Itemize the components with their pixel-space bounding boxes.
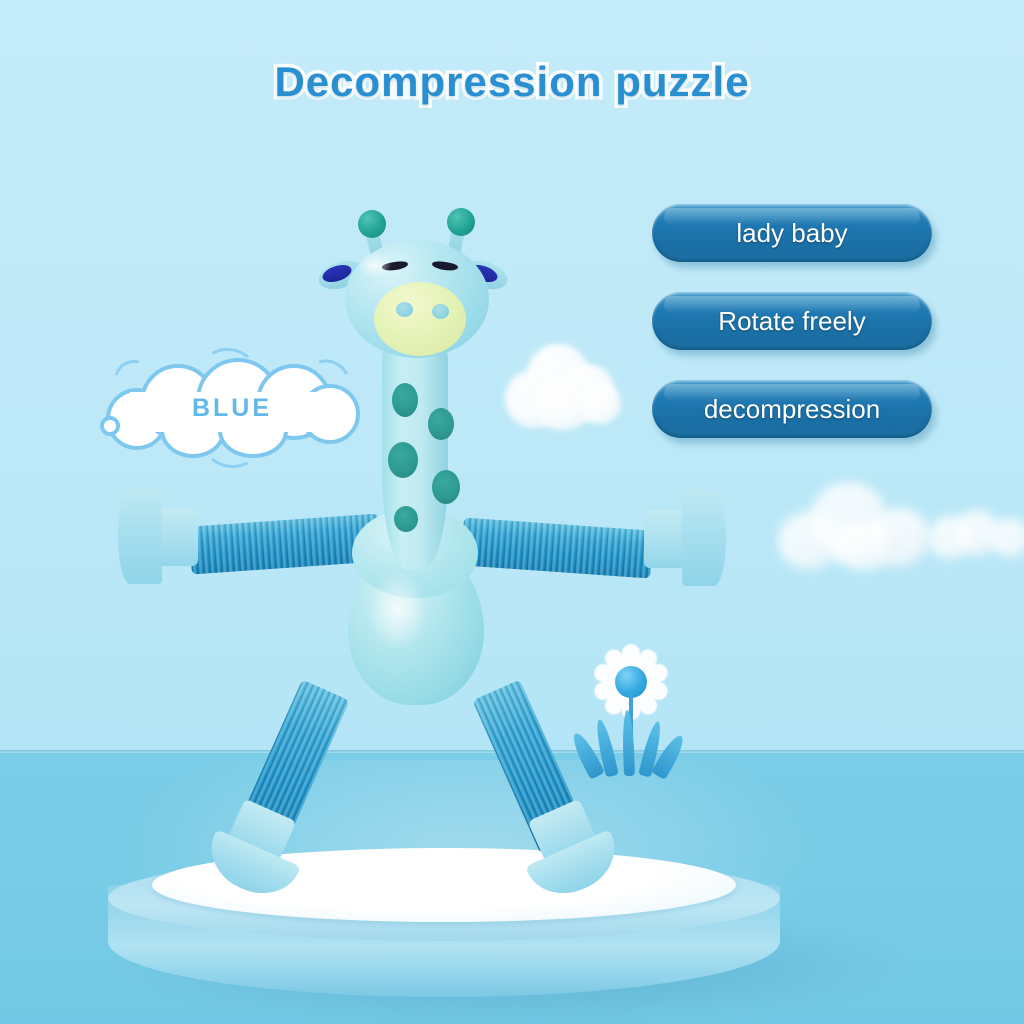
toy-spot xyxy=(388,442,418,478)
toy-spot xyxy=(394,506,418,532)
toy-spot xyxy=(428,408,454,440)
toy-spot xyxy=(432,470,460,504)
toy-nostril-right xyxy=(432,304,449,319)
toy-muzzle xyxy=(374,282,466,356)
toy-arm-right-tube[interactable] xyxy=(461,517,654,578)
toy-horn-left-ball xyxy=(358,210,386,238)
toy-spot xyxy=(392,383,418,417)
toy-arm-right-suction-cup[interactable] xyxy=(682,490,726,586)
toy-horn-right-ball xyxy=(447,208,475,236)
feature-pill-label: Rotate freely xyxy=(718,306,865,337)
feature-pill-label: lady baby xyxy=(736,218,847,249)
feature-pill-label: decompression xyxy=(704,394,880,425)
toy-arm-left-suction-cup[interactable] xyxy=(118,488,162,584)
giraffe-pop-tube-toy[interactable] xyxy=(0,0,1024,1024)
product-image-canvas: Decompression puzzle lady baby Rotate fr… xyxy=(0,0,1024,1024)
toy-nostril-left xyxy=(396,302,413,317)
